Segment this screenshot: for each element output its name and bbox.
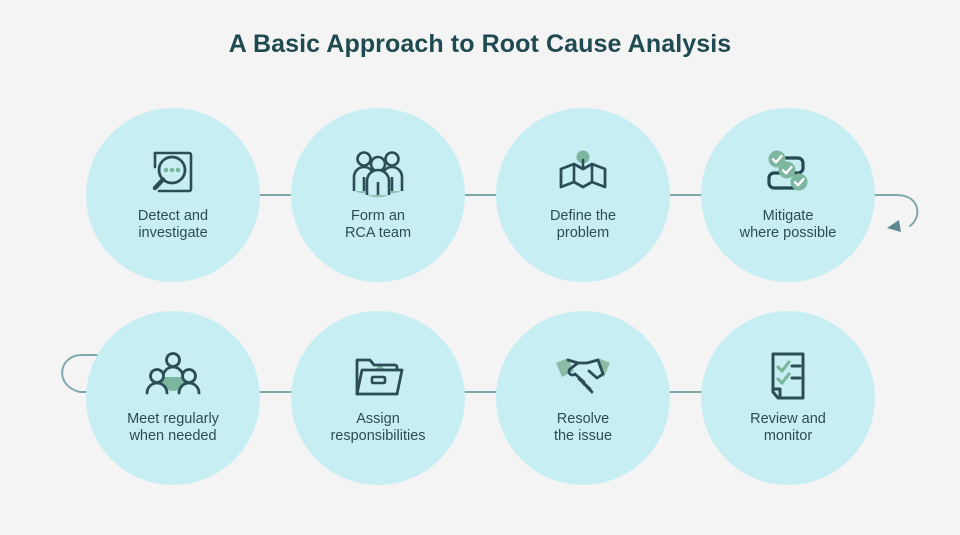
diagram-canvas: A Basic Approach to Root Cause Analysis [0,0,960,535]
step-node-3[interactable]: Define the problem [496,108,670,282]
meeting-people-icon [144,347,202,405]
step-node-7[interactable]: Resolve the issue [496,311,670,485]
step-node-5[interactable]: Meet regularly when needed [86,311,260,485]
step-label-5: Meet regularly when needed [98,411,248,445]
step-label-3: Define the problem [508,208,658,242]
step-label-6: Assign responsibilities [303,411,453,445]
page-title: A Basic Approach to Root Cause Analysis [0,30,960,59]
team-group-icon [349,144,407,202]
map-pin-icon [554,144,612,202]
step-label-7: Resolve the issue [508,411,658,445]
handshake-icon [554,347,612,405]
magnifier-document-icon [144,144,202,202]
step-label-8: Review and monitor [713,411,863,445]
step-label-4: Mitigate where possible [713,208,863,242]
step-node-4[interactable]: Mitigate where possible [701,108,875,282]
folder-icon [349,347,407,405]
step-node-8[interactable]: Review and monitor [701,311,875,485]
step-label-1: Detect and investigate [98,208,248,242]
checklist-flow-icon [759,144,817,202]
step-node-1[interactable]: Detect and investigate [86,108,260,282]
step-node-6[interactable]: Assign responsibilities [291,311,465,485]
step-node-2[interactable]: Form an RCA team [291,108,465,282]
checklist-document-icon [759,347,817,405]
step-label-2: Form an RCA team [303,208,453,242]
